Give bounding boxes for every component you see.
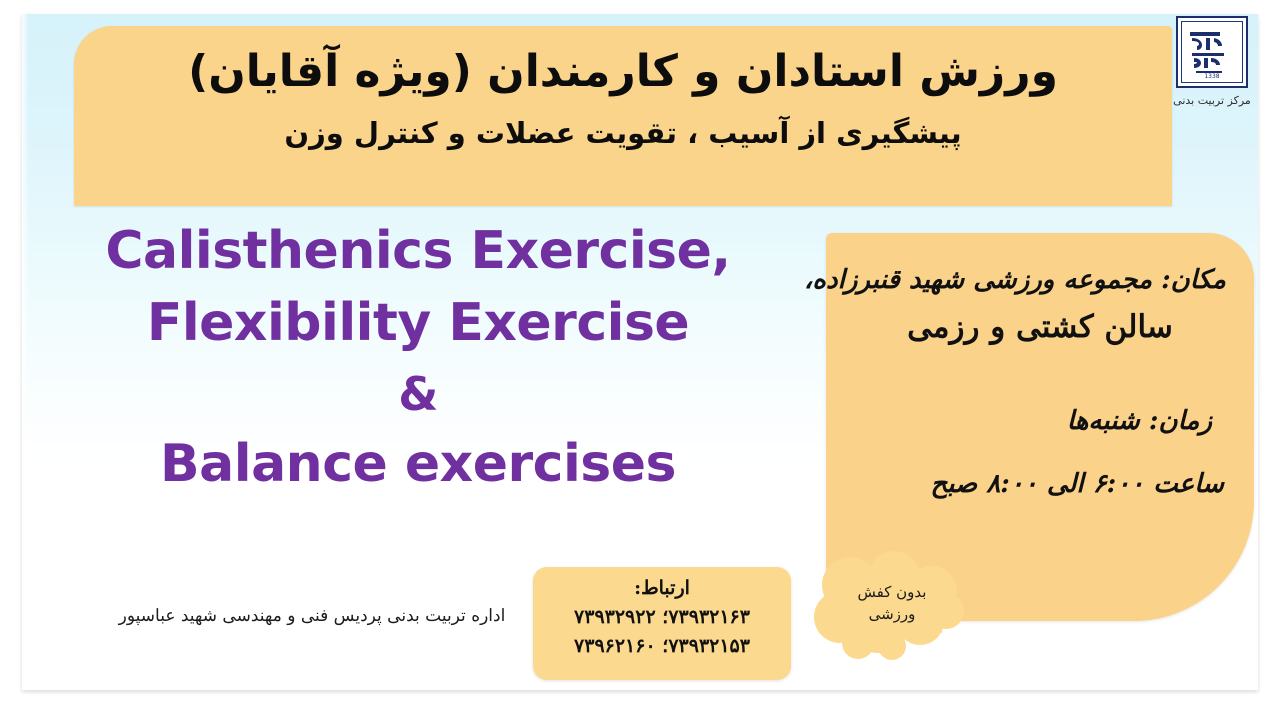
poster-canvas: ورزش استادان و کارمندان (ویژه آقایان) پی… [0,0,1280,720]
cloud-note-line-2: ورزشی [869,603,916,626]
university-emblem-icon: 1338 [1176,16,1248,88]
university-logo: 1338 مرکز تربیت بدنی [1158,16,1266,107]
footer-department: اداره تربیت بدنی پردیس فنی و مهندسی شهید… [92,604,532,630]
emblem-glyph-icon: 1338 [1182,22,1242,82]
svg-text:1338: 1338 [1204,73,1219,80]
emblem-inner-frame: 1338 [1181,21,1243,83]
contact-phone-line-2: ۷۳۹۳۲۱۵۳؛ ۷۳۹۶۲۱۶۰ [533,632,791,661]
contact-title: ارتباط: [533,574,791,603]
english-headline-line-1: Calisthenics Exercise, [18,216,818,288]
cloud-note-callout: بدون کفش ورزشی [812,551,972,663]
english-headline-line-2: Flexibility Exercise [18,288,818,360]
contact-box: ارتباط: ۷۳۹۳۲۱۶۳؛ ۷۳۹۳۲۹۲۲ ۷۳۹۳۲۱۵۳؛ ۷۳۹… [533,567,791,680]
english-headline-block: Calisthenics Exercise, Flexibility Exerc… [18,216,818,500]
event-time: ساعت ۶:۰۰ الی ۸:۰۰ صبح [850,466,1230,502]
poster-title: ورزش استادان و کارمندان (ویژه آقایان) [188,44,1058,99]
english-headline-ampersand: & [18,360,818,429]
header-banner: ورزش استادان و کارمندان (ویژه آقایان) پی… [74,26,1172,206]
cloud-note-text: بدون کفش ورزشی [812,551,972,663]
english-headline-line-4: Balance exercises [18,429,818,501]
event-location-hall: سالن کشتی و رزمی [850,306,1230,349]
poster-subtitle: پیشگیری از آسیب ، تقویت عضلات و کنترل وز… [284,115,961,153]
cloud-note-line-1: بدون کفش [858,581,927,604]
event-day: زمان: شنبه‌ها [850,403,1230,439]
event-location-label: مکان: مجموعه ورزشی شهید قنبرزاده، [850,263,1230,298]
contact-phone-line-1: ۷۳۹۳۲۱۶۳؛ ۷۳۹۳۲۹۲۲ [533,603,791,632]
logo-caption: مرکز تربیت بدنی [1158,94,1266,107]
